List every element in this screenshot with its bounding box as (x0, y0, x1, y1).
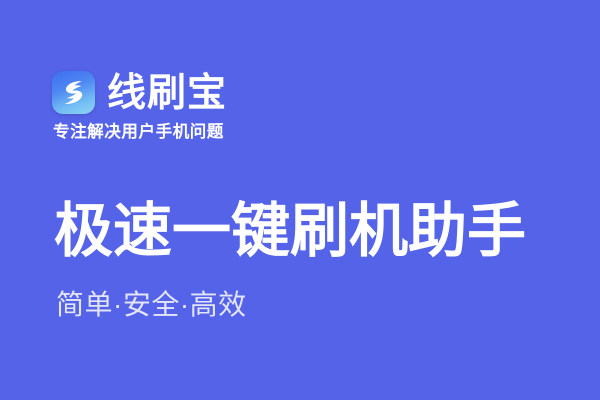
promo-banner: 线刷宝 专注解决用户手机问题 极速一键刷机助手 简单·安全·高效 (0, 0, 600, 400)
brand-lockup: 线刷宝 (52, 68, 352, 116)
lightning-s-logo-icon (52, 71, 95, 114)
hero-headline: 极速一键刷机助手 (54, 198, 526, 264)
brand-block: 线刷宝 专注解决用户手机问题 (52, 68, 352, 141)
hero-subtitle: 简单·安全·高效 (56, 289, 247, 321)
brand-name: 线刷宝 (107, 74, 227, 113)
brand-tagline: 专注解决用户手机问题 (53, 123, 352, 141)
